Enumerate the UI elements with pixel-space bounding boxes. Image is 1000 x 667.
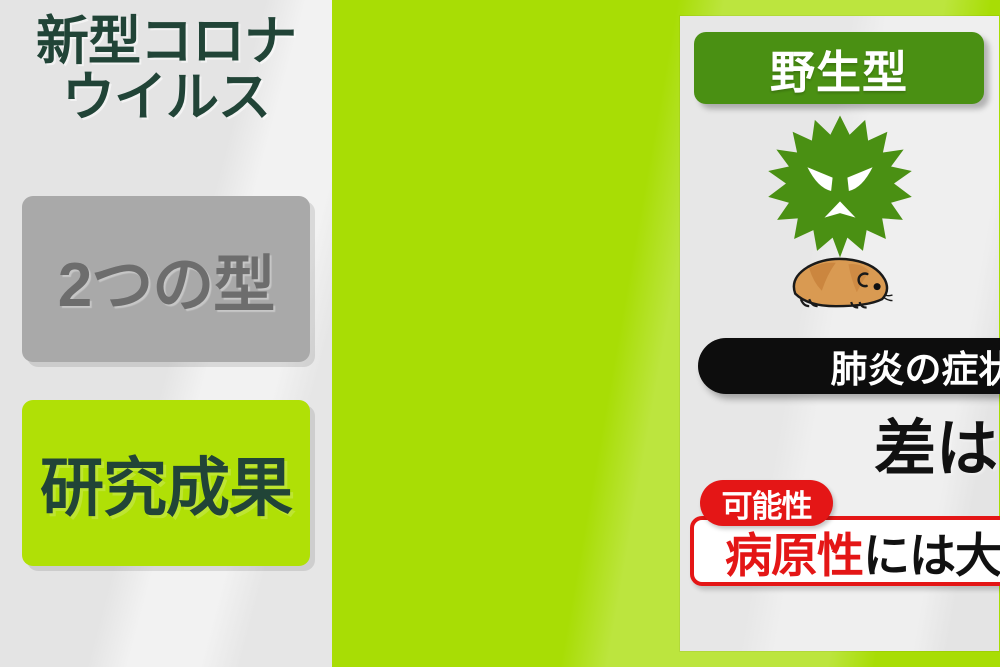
column-header-wild: 野生型 <box>694 32 984 104</box>
column-header-wild-label: 野生型 <box>770 36 908 101</box>
sidebar: 新型コロナ ウイルス 2つの型 研究成果 <box>0 0 332 667</box>
column-cell-wild <box>680 112 999 328</box>
content-frame: 野生型 変異型 <box>332 0 1000 667</box>
conclusion-part-1: 病原性 <box>725 517 863 586</box>
page-title-line-1: 新型コロナ <box>0 14 332 70</box>
conclusion-part-2: には大きく <box>863 517 1000 586</box>
metric-banner: 肺炎の症状 （動物実験） <box>698 338 1000 394</box>
hamster-icon <box>784 250 896 317</box>
metric-banner-main-label: 肺炎の症状 <box>830 339 1000 393</box>
result-statement-label: 差はなし <box>874 415 1000 484</box>
result-statement: 差はなし <box>680 398 1000 488</box>
infographic-root: 新型コロナ ウイルス 2つの型 研究成果 野生型 変異型 <box>0 0 1000 667</box>
page-title-line-2: ウイルス <box>0 70 332 126</box>
conclusion-box: 病原性 には大きく 影響せず <box>690 516 1000 586</box>
possibility-badge: 可能性 <box>700 480 833 526</box>
possibility-badge-label: 可能性 <box>722 481 812 526</box>
sidebar-chip-two-types-label: 2つの型 <box>58 234 274 324</box>
page-title: 新型コロナ ウイルス <box>0 14 332 126</box>
angry-virus-icon <box>766 114 914 267</box>
sidebar-chip-two-types: 2つの型 <box>22 196 310 362</box>
sidebar-chip-research-result-label: 研究成果 <box>40 437 292 529</box>
sidebar-chip-research-result: 研究成果 <box>22 400 310 566</box>
comparison-panel: 野生型 変異型 <box>680 16 1000 651</box>
